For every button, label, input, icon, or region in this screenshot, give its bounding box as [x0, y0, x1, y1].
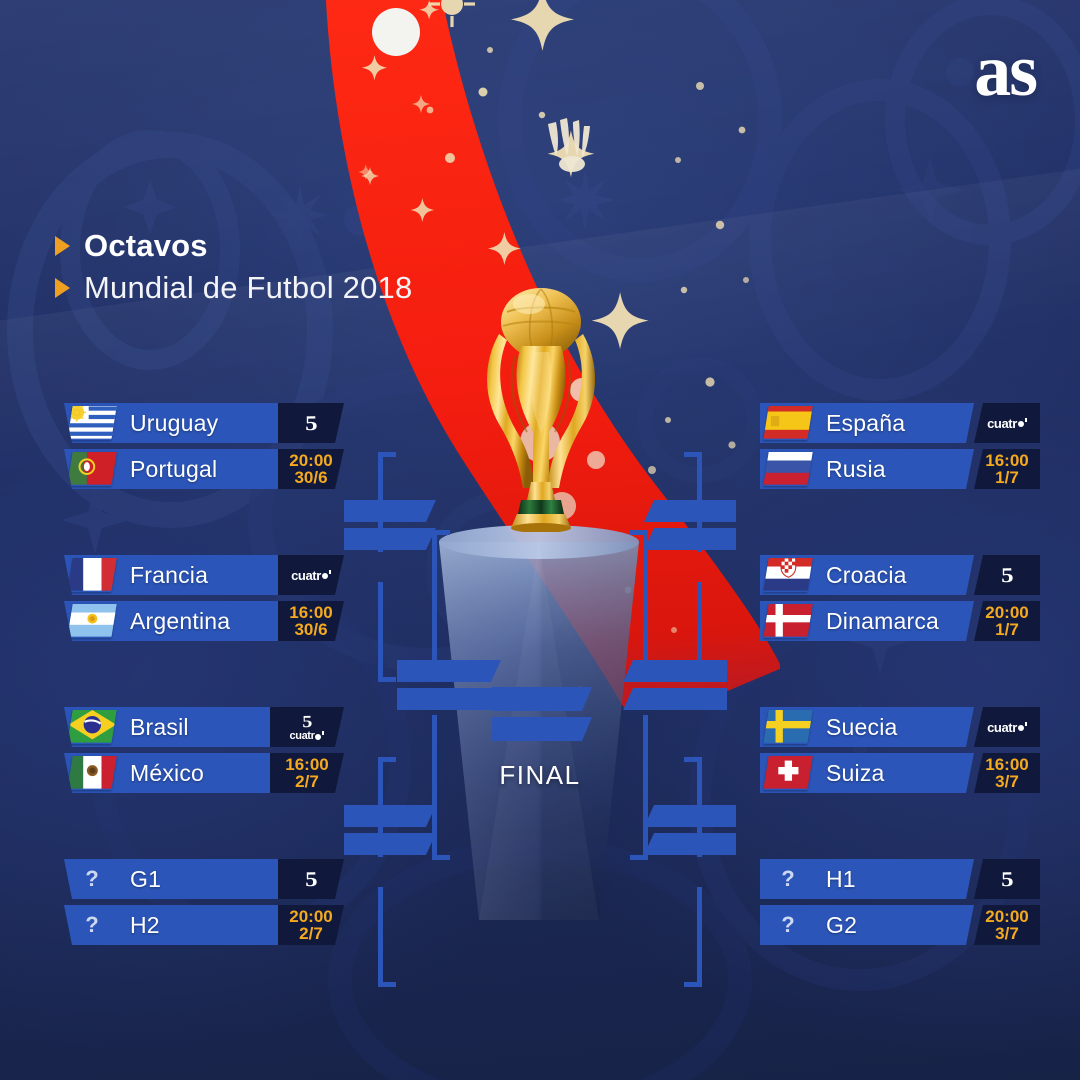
channel-panel[interactable]: 5 cuatr	[270, 707, 344, 747]
match-time: 16:00	[285, 756, 328, 773]
kickoff-panel: 20:00 2/7	[278, 905, 344, 945]
kickoff-panel: 16:00 1/7	[974, 449, 1040, 489]
team-row[interactable]: Argentina 16:00 30/6	[64, 601, 344, 641]
telecinco-logo: 5	[305, 868, 318, 889]
team-name: Rusia	[810, 456, 974, 483]
match-time: 20:00	[289, 908, 332, 925]
team-name: Suecia	[810, 714, 974, 741]
team-bar[interactable]: Suecia	[760, 707, 974, 747]
match-time: 20:00	[985, 604, 1028, 621]
quarterfinal-slot-left-2[interactable]	[344, 805, 436, 855]
team-bar[interactable]: Brasil	[64, 707, 270, 747]
team-row[interactable]: Portugal 20:00 30/6	[64, 449, 344, 489]
team-bar[interactable]: ? G2	[760, 905, 974, 945]
triangle-bullet-icon	[55, 236, 70, 256]
francia-flag	[67, 558, 116, 592]
bracket-connector-left-2	[378, 757, 400, 987]
uruguay-flag	[67, 406, 116, 440]
team-bar[interactable]: ? G1	[64, 859, 278, 899]
match-date: 1/7	[995, 621, 1019, 638]
rusia-flag	[763, 452, 812, 486]
match-time: 20:00	[985, 908, 1028, 925]
match-date: 2/7	[299, 925, 323, 942]
world-cup-trophy	[477, 282, 605, 532]
final-slot[interactable]	[492, 687, 592, 741]
channel-panel[interactable]: cuatr	[278, 555, 344, 595]
suiza-flag	[763, 756, 812, 790]
team-row[interactable]: Uruguay 5	[64, 403, 344, 443]
bracket-slot[interactable]	[644, 500, 736, 522]
bracket-column-left: Uruguay 5 Portugal 20:00 30/6 Francia cu…	[64, 403, 344, 1011]
quarterfinal-slot-left-1[interactable]	[344, 500, 436, 550]
semifinal-slot-right[interactable]	[623, 660, 727, 710]
team-name: Argentina	[114, 608, 278, 635]
suecia-flag	[763, 710, 812, 744]
team-row[interactable]: Suiza 16:00 3/7	[760, 753, 1040, 793]
header-titles: Octavos Mundial de Futbol 2018	[55, 228, 412, 312]
telecinco-logo: 5	[305, 412, 318, 433]
bracket-connector-right-1	[680, 452, 702, 682]
team-bar[interactable]: Rusia	[760, 449, 974, 489]
team-row[interactable]: Francia cuatr	[64, 555, 344, 595]
match-time: 16:00	[985, 756, 1028, 773]
team-bar[interactable]: Argentina	[64, 601, 278, 641]
team-name: Francia	[114, 562, 278, 589]
bracket-slot[interactable]	[492, 687, 592, 711]
team-bar[interactable]: Suiza	[760, 753, 974, 793]
dinamarca-flag	[763, 604, 812, 638]
argentina-flag	[67, 604, 116, 638]
triangle-bullet-icon	[55, 278, 70, 298]
bracket-slot[interactable]	[344, 833, 436, 855]
match-card[interactable]: Croacia 5 Dinamarca 20:00 1/7	[760, 555, 1040, 643]
unknown-team-icon: ?	[70, 866, 114, 892]
channel-panel[interactable]: 5	[278, 859, 344, 899]
kickoff-panel: 16:00 30/6	[278, 601, 344, 641]
match-date: 30/6	[294, 621, 327, 638]
team-row[interactable]: Croacia 5	[760, 555, 1040, 595]
brasil-flag	[67, 710, 116, 744]
team-row[interactable]: ? H1 5	[760, 859, 1040, 899]
team-name: México	[114, 760, 270, 787]
bracket-slot[interactable]	[492, 717, 592, 741]
team-name: H1	[810, 866, 974, 893]
telecinco-cuatro-logo: 5 cuatr	[290, 713, 325, 742]
bracket-slot[interactable]	[397, 660, 501, 682]
match-card[interactable]: Suecia cuatr Suiza 16:00 3/7	[760, 707, 1040, 795]
team-name: H2	[114, 912, 278, 939]
team-name: Dinamarca	[810, 608, 974, 635]
unknown-team-icon: ?	[766, 912, 810, 938]
match-date: 30/6	[294, 469, 327, 486]
team-name: Portugal	[114, 456, 278, 483]
team-row[interactable]: ? H2 20:00 2/7	[64, 905, 344, 945]
semifinal-slot-left[interactable]	[397, 660, 501, 710]
match-date: 3/7	[995, 925, 1019, 942]
kickoff-panel: 16:00 3/7	[974, 753, 1040, 793]
bracket-slot[interactable]	[344, 500, 436, 522]
portugal-flag	[67, 452, 116, 486]
bracket-slot[interactable]	[644, 528, 736, 550]
team-name: Croacia	[810, 562, 974, 589]
bracket-slot[interactable]	[623, 688, 727, 710]
bracket-slot[interactable]	[344, 528, 436, 550]
team-row[interactable]: Rusia 16:00 1/7	[760, 449, 1040, 489]
team-name: Suiza	[810, 760, 974, 787]
kickoff-panel: 16:00 2/7	[270, 753, 344, 793]
kickoff-panel: 20:00 3/7	[974, 905, 1040, 945]
bracket-slot[interactable]	[623, 660, 727, 682]
telecinco-logo: 5	[1001, 868, 1014, 889]
match-date: 3/7	[995, 773, 1019, 790]
team-bar[interactable]: México	[64, 753, 270, 793]
team-bar[interactable]: ? H1	[760, 859, 974, 899]
croacia-flag	[763, 558, 812, 592]
channel-panel[interactable]: 5	[278, 403, 344, 443]
match-time: 16:00	[289, 604, 332, 621]
channel-panel[interactable]: cuatr	[974, 403, 1040, 443]
quarterfinal-slot-right-1[interactable]	[644, 500, 736, 550]
match-time: 16:00	[985, 452, 1028, 469]
cuatro-logo: cuatr	[987, 417, 1027, 430]
team-row[interactable]: ? G2 20:00 3/7	[760, 905, 1040, 945]
team-bar[interactable]: Croacia	[760, 555, 974, 595]
page-title-row: Octavos	[55, 228, 412, 264]
unknown-team-icon: ?	[70, 912, 114, 938]
team-row[interactable]: ? G1 5	[64, 859, 344, 899]
page-title: Octavos	[84, 228, 208, 264]
match-card[interactable]: ? G1 5 ? H2 20:00 2/7	[64, 859, 344, 947]
channel-panel[interactable]: 5	[974, 859, 1040, 899]
team-name: España	[810, 410, 974, 437]
match-time: 20:00	[289, 452, 332, 469]
team-bar[interactable]: Francia	[64, 555, 278, 595]
espana-flag	[763, 406, 812, 440]
mexico-flag	[67, 756, 116, 790]
team-name: Brasil	[114, 714, 270, 741]
telecinco-logo: 5	[302, 712, 312, 729]
team-name: G2	[810, 912, 974, 939]
kickoff-panel: 20:00 1/7	[974, 601, 1040, 641]
channel-panel[interactable]: 5	[974, 555, 1040, 595]
bracket-slot[interactable]	[344, 805, 436, 827]
as-logo[interactable]: as	[974, 34, 1036, 108]
page-subtitle: Mundial de Futbol 2018	[84, 270, 412, 306]
match-card[interactable]: ? H1 5 ? G2 20:00 3/7	[760, 859, 1040, 947]
bracket-column-right: España cuatr Rusia 16:00 1/7 Croacia	[760, 403, 1040, 1011]
match-card[interactable]: Brasil 5 cuatr México 16:00 2/7	[64, 707, 344, 795]
team-name: Uruguay	[114, 410, 278, 437]
match-card[interactable]: España cuatr Rusia 16:00 1/7	[760, 403, 1040, 491]
team-row[interactable]: Brasil 5 cuatr	[64, 707, 344, 747]
bracket-slot[interactable]	[644, 805, 736, 827]
match-date: 2/7	[295, 773, 319, 790]
infographic-canvas: FINAL as Octavos Mundial de Futbol 2018 …	[0, 0, 1080, 1080]
page-subtitle-row: Mundial de Futbol 2018	[55, 270, 412, 306]
team-bar[interactable]: Portugal	[64, 449, 278, 489]
match-date: 1/7	[995, 469, 1019, 486]
team-name: G1	[114, 866, 278, 893]
quarterfinal-slot-right-2[interactable]	[644, 805, 736, 855]
cuatro-logo: cuatr	[291, 569, 331, 582]
bracket-connector-left-1	[378, 452, 400, 682]
kickoff-panel: 20:00 30/6	[278, 449, 344, 489]
team-row[interactable]: Suecia cuatr	[760, 707, 1040, 747]
cuatro-logo: cuatr	[290, 731, 325, 742]
match-card[interactable]: Uruguay 5 Portugal 20:00 30/6	[64, 403, 344, 491]
team-bar[interactable]: ? H2	[64, 905, 278, 945]
team-bar[interactable]: España	[760, 403, 974, 443]
team-row[interactable]: Dinamarca 20:00 1/7	[760, 601, 1040, 641]
team-row[interactable]: México 16:00 2/7	[64, 753, 344, 793]
cuatro-logo: cuatr	[987, 721, 1027, 734]
bracket-slot[interactable]	[397, 688, 501, 710]
channel-panel[interactable]: cuatr	[974, 707, 1040, 747]
bracket-slot[interactable]	[644, 833, 736, 855]
match-card[interactable]: Francia cuatr Argentina 16:00 30/6	[64, 555, 344, 643]
team-row[interactable]: España cuatr	[760, 403, 1040, 443]
telecinco-logo: 5	[1001, 564, 1014, 585]
team-bar[interactable]: Dinamarca	[760, 601, 974, 641]
bracket-connector-right-2	[680, 757, 702, 987]
unknown-team-icon: ?	[766, 866, 810, 892]
team-bar[interactable]: Uruguay	[64, 403, 278, 443]
